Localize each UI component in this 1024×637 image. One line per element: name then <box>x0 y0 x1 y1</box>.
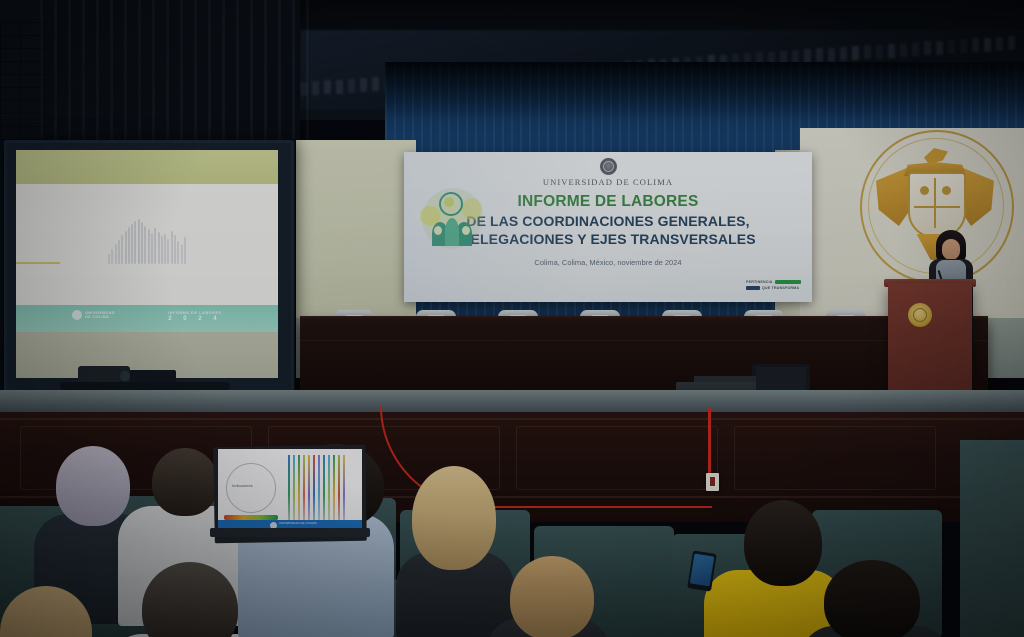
rig-slat <box>888 44 895 58</box>
audience-member-head <box>56 446 130 526</box>
rig-slat <box>336 80 343 94</box>
slide-bar <box>134 221 136 264</box>
audience <box>0 440 1024 637</box>
slide-top-band <box>16 150 278 184</box>
slide-bar <box>118 240 120 264</box>
presenter-face <box>942 239 960 260</box>
rig-slat <box>840 47 847 61</box>
rig-slat <box>312 81 319 95</box>
rig-slat <box>912 42 919 56</box>
rig-slat <box>948 40 955 54</box>
rig-slat <box>876 45 883 59</box>
slide-bar <box>161 236 163 264</box>
dashboard-bar <box>298 455 300 527</box>
campaign-logo-line1: PERTINENCIA <box>746 280 773 284</box>
slide-bar <box>167 239 169 264</box>
slide-bar <box>144 226 146 264</box>
slide-footer-year: 2 0 2 4 <box>168 316 222 322</box>
dashboard-gauge-label: Indicadores <box>232 483 253 488</box>
audience-member-head <box>412 466 496 570</box>
slide-bar <box>174 235 176 264</box>
university-seal-icon <box>908 303 932 327</box>
banner-heading-line2: DE LAS COORDINACIONES GENERALES, <box>404 213 812 229</box>
dashboard-bar <box>328 455 330 527</box>
dashboard-bar <box>343 455 345 527</box>
slide-bar <box>138 219 140 264</box>
people-foliage-circle-icon <box>418 184 488 256</box>
rig-slat <box>816 48 823 62</box>
slide-bar <box>184 237 186 264</box>
dashboard-bar <box>333 455 335 527</box>
slide-bar-chart <box>108 212 188 264</box>
banner-institution: UNIVERSIDAD DE COLIMA <box>404 177 812 187</box>
dashboard-bar <box>323 455 325 527</box>
rig-slat <box>984 38 991 52</box>
banner-heading-line1: INFORME DE LABORES <box>404 193 812 211</box>
slide-footer-title: INFORME DE LABORES <box>168 311 222 315</box>
banner-heading-line3: DELEGACIONES Y EJES TRANSVERSALES <box>404 231 812 247</box>
event-banner: UNIVERSIDAD DE COLIMA INFORME DE LABORES… <box>404 152 812 302</box>
slide-bar <box>125 231 127 265</box>
slide-footer-institution-line2: DE COLIMA <box>85 315 115 319</box>
rig-slat <box>996 37 1003 51</box>
presidium-table <box>300 318 988 390</box>
slide-bar <box>121 235 123 264</box>
rig-slat <box>936 41 943 55</box>
university-seal-icon <box>72 310 82 320</box>
slide-bar <box>128 227 130 264</box>
slide-footer-band <box>16 305 278 332</box>
dashboard-bar <box>338 455 340 527</box>
dashboard-bar-chart <box>288 455 350 527</box>
slide-accent-line <box>16 262 60 264</box>
audience-member-head <box>744 500 822 586</box>
laptop-dashboard-screen: Indicadores Meta del Plan Institucional … <box>218 449 362 531</box>
audience-member-head <box>510 556 594 637</box>
projection-screen: UNIVERSIDAD DE COLIMA INFORME DE LABORES… <box>16 150 278 378</box>
dashboard-bar <box>313 455 315 527</box>
dashboard-footer-institution: UNIVERSIDAD DE COLIMA <box>279 522 317 525</box>
slide-bar <box>171 231 173 265</box>
slide-bar <box>111 249 113 264</box>
rig-slat <box>324 80 331 94</box>
campaign-logo-line2: QUE TRANSFORMA <box>762 286 799 290</box>
slide-bar <box>141 222 143 264</box>
university-seal-icon <box>600 158 617 175</box>
dashboard-bar <box>303 455 305 527</box>
audience-member-head <box>152 448 218 516</box>
slide-bar <box>115 244 117 264</box>
slide-bar <box>151 233 153 264</box>
audience-member-head <box>824 560 920 637</box>
curtain-shadow <box>385 62 1024 122</box>
rig-slat <box>372 77 379 91</box>
rig-slat <box>1008 36 1015 50</box>
rig-slat <box>900 43 907 57</box>
dashboard-gauge <box>226 463 276 513</box>
slide-bar <box>177 241 179 264</box>
slide-footer-title-block: INFORME DE LABORES 2 0 2 4 <box>168 311 222 322</box>
slide-bar <box>158 232 160 264</box>
rig-slat <box>864 45 871 59</box>
dashboard-bar <box>308 455 310 527</box>
dashboard-bar <box>288 455 290 527</box>
rig-slat <box>828 48 835 62</box>
rig-slat <box>360 78 367 92</box>
slide-bar <box>164 234 166 264</box>
laptop-base <box>210 528 370 537</box>
dashboard-bar <box>318 455 320 527</box>
slide-bar <box>131 224 133 264</box>
slide-bar <box>154 228 156 264</box>
rig-slat <box>972 38 979 52</box>
auditorium-photo: UNIVERSIDAD DE COLIMA INFORME DE LABORES… <box>0 0 1024 637</box>
slide-bar <box>108 254 110 264</box>
banner-date: Colima, Colima, México, noviembre de 202… <box>404 258 812 267</box>
rig-slat <box>852 46 859 60</box>
slide-bar <box>181 244 183 264</box>
slide-bar <box>148 229 150 264</box>
slide-footer-logo: UNIVERSIDAD DE COLIMA <box>72 310 115 320</box>
rig-slat <box>348 79 355 93</box>
campaign-logo: PERTINENCIA QUE TRANSFORMA <box>746 280 804 294</box>
screen-foot <box>60 382 230 390</box>
rig-slat <box>924 41 931 55</box>
dashboard-bar <box>293 455 295 527</box>
projector-lens-icon <box>120 371 130 381</box>
rig-slat <box>960 39 967 53</box>
